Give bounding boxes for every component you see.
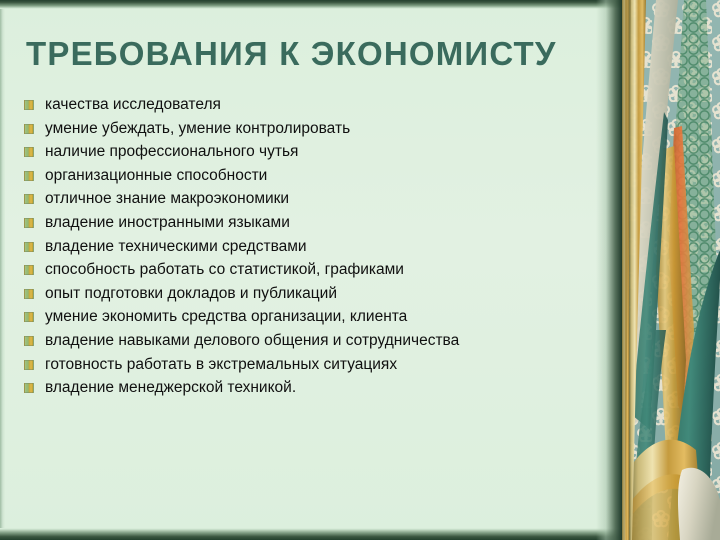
gradient-square-bullet-icon [24, 171, 34, 181]
ornament-artwork [622, 0, 720, 540]
gradient-square-bullet-icon [24, 312, 34, 322]
left-edge-gradient [0, 0, 5, 540]
requirements-list: качества исследователя умение убеждать, … [24, 96, 604, 403]
top-edge-gradient [0, 0, 622, 9]
decorative-floral-ribbon-panel [622, 0, 720, 540]
list-item: организационные способности [24, 167, 604, 191]
gradient-square-bullet-icon [24, 100, 34, 110]
gradient-square-bullet-icon [24, 124, 34, 134]
list-item: опыт подготовки докладов и публикаций [24, 285, 604, 309]
list-item: владение менеджерской техникой. [24, 379, 604, 403]
list-item: готовность работать в экстремальных ситу… [24, 356, 604, 380]
list-item: владение иностранными языками [24, 214, 604, 238]
gradient-square-bullet-icon [24, 147, 34, 157]
gradient-square-bullet-icon [24, 289, 34, 299]
list-item: владение навыками делового общения и сот… [24, 332, 604, 356]
gradient-square-bullet-icon [24, 242, 34, 252]
list-item: владение техническими средствами [24, 238, 604, 262]
gradient-square-bullet-icon [24, 383, 34, 393]
list-item: умение убеждать, умение контролировать [24, 120, 604, 144]
list-item-label: владение иностранными языками [45, 214, 604, 232]
list-item-label: умение убеждать, умение контролировать [45, 120, 604, 138]
gradient-square-bullet-icon [24, 194, 34, 204]
gradient-square-bullet-icon [24, 218, 34, 228]
list-item-label: владение менеджерской техникой. [45, 379, 604, 397]
list-item: умение экономить средства организации, к… [24, 308, 604, 332]
slide-canvas: ТРЕБОВАНИЯ К ЭКОНОМИСТУ качества исследо… [0, 0, 720, 540]
list-item-label: умение экономить средства организации, к… [45, 308, 604, 326]
gradient-square-bullet-icon [24, 265, 34, 275]
list-item-label: владение навыками делового общения и сот… [45, 332, 604, 350]
page-title: ТРЕБОВАНИЯ К ЭКОНОМИСТУ [26, 33, 596, 75]
gradient-square-bullet-icon [24, 336, 34, 346]
list-item-label: владение техническими средствами [45, 238, 604, 256]
list-item-label: готовность работать в экстремальных ситу… [45, 356, 604, 374]
list-item-label: отличное знание макроэкономики [45, 190, 604, 208]
list-item: способность работать со статистикой, гра… [24, 261, 604, 285]
list-item-label: способность работать со статистикой, гра… [45, 261, 604, 279]
list-item: отличное знание макроэкономики [24, 190, 604, 214]
list-item-label: опыт подготовки докладов и публикаций [45, 285, 604, 303]
gradient-square-bullet-icon [24, 360, 34, 370]
list-item: наличие профессионального чутья [24, 143, 604, 167]
list-item-label: наличие профессионального чутья [45, 143, 604, 161]
list-item: качества исследователя [24, 96, 604, 120]
list-item-label: организационные способности [45, 167, 604, 185]
list-item-label: качества исследователя [45, 96, 604, 114]
bottom-edge-gradient [0, 528, 622, 540]
